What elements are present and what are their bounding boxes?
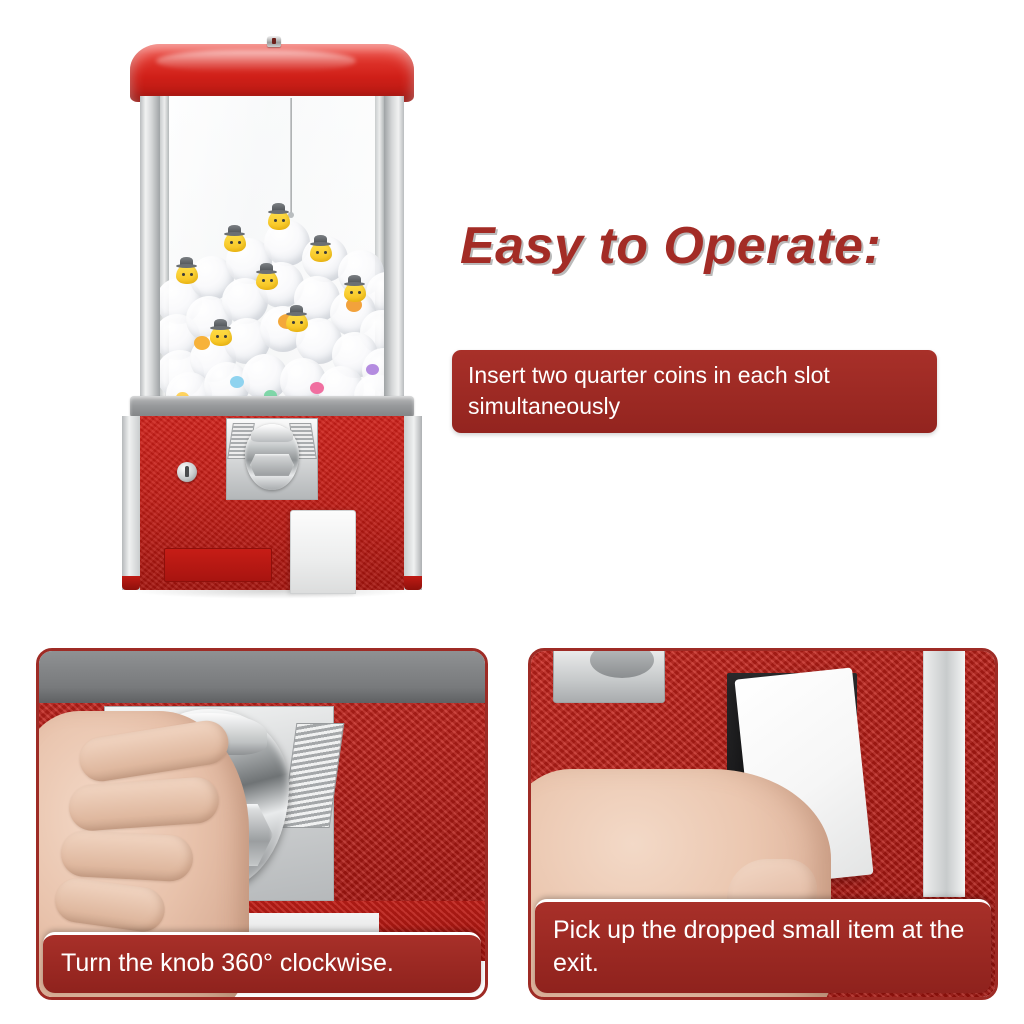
infographic-page: Easy to Operate: Insert two quarter coin… [0, 0, 1024, 1024]
machine-collar-closeup [39, 651, 485, 703]
capsule-globe [140, 96, 404, 398]
coin-mechanism[interactable] [226, 418, 318, 500]
knob-shadow-oval [590, 651, 654, 678]
duck-toy-icon [176, 264, 198, 284]
machine-side-left [122, 416, 140, 590]
knob-face [250, 454, 294, 476]
capsule-pile [160, 186, 384, 398]
top-lid-lock-icon [267, 36, 281, 47]
duck-toy-icon [210, 326, 232, 346]
cabinet-lock-icon[interactable] [177, 462, 197, 482]
page-title: Easy to Operate: [460, 216, 881, 276]
hero-caption-box: Insert two quarter coins in each slot si… [452, 350, 937, 433]
corner-post-left [140, 96, 160, 398]
duck-toy-icon [256, 270, 278, 290]
machine-side-right [404, 416, 422, 590]
corner-post-right [384, 96, 404, 398]
machine-side-edge [923, 651, 965, 897]
coin-mech-plate-closeup [553, 651, 665, 703]
step-panel-pick-up: Pick up the dropped small item at the ex… [528, 648, 998, 1000]
dome-gloss-highlight [156, 50, 356, 72]
hero-section: Easy to Operate: Insert two quarter coin… [0, 0, 1024, 620]
duck-toy-icon [310, 242, 332, 262]
duck-toy-icon [286, 312, 308, 332]
turn-knob[interactable] [245, 424, 299, 490]
base-plate [164, 548, 272, 582]
duck-toy-icon [268, 210, 290, 230]
finger-ring [60, 830, 194, 883]
duck-toy-icon [224, 232, 246, 252]
machine-top-dome-icon [130, 44, 414, 102]
knob-cap [251, 426, 293, 442]
product-image-vending-machine [122, 30, 422, 595]
duck-toy-icon [344, 282, 366, 302]
step-panel-turn-knob: Turn the knob 360° clockwise. [36, 648, 488, 1000]
step-caption-pick-up: Pick up the dropped small item at the ex… [535, 899, 991, 993]
machine-collar [130, 396, 414, 418]
machine-foot-right [404, 576, 422, 590]
exit-flap-door[interactable] [290, 510, 356, 594]
machine-foot-left [122, 576, 140, 590]
step-caption-turn-knob: Turn the knob 360° clockwise. [43, 932, 481, 994]
